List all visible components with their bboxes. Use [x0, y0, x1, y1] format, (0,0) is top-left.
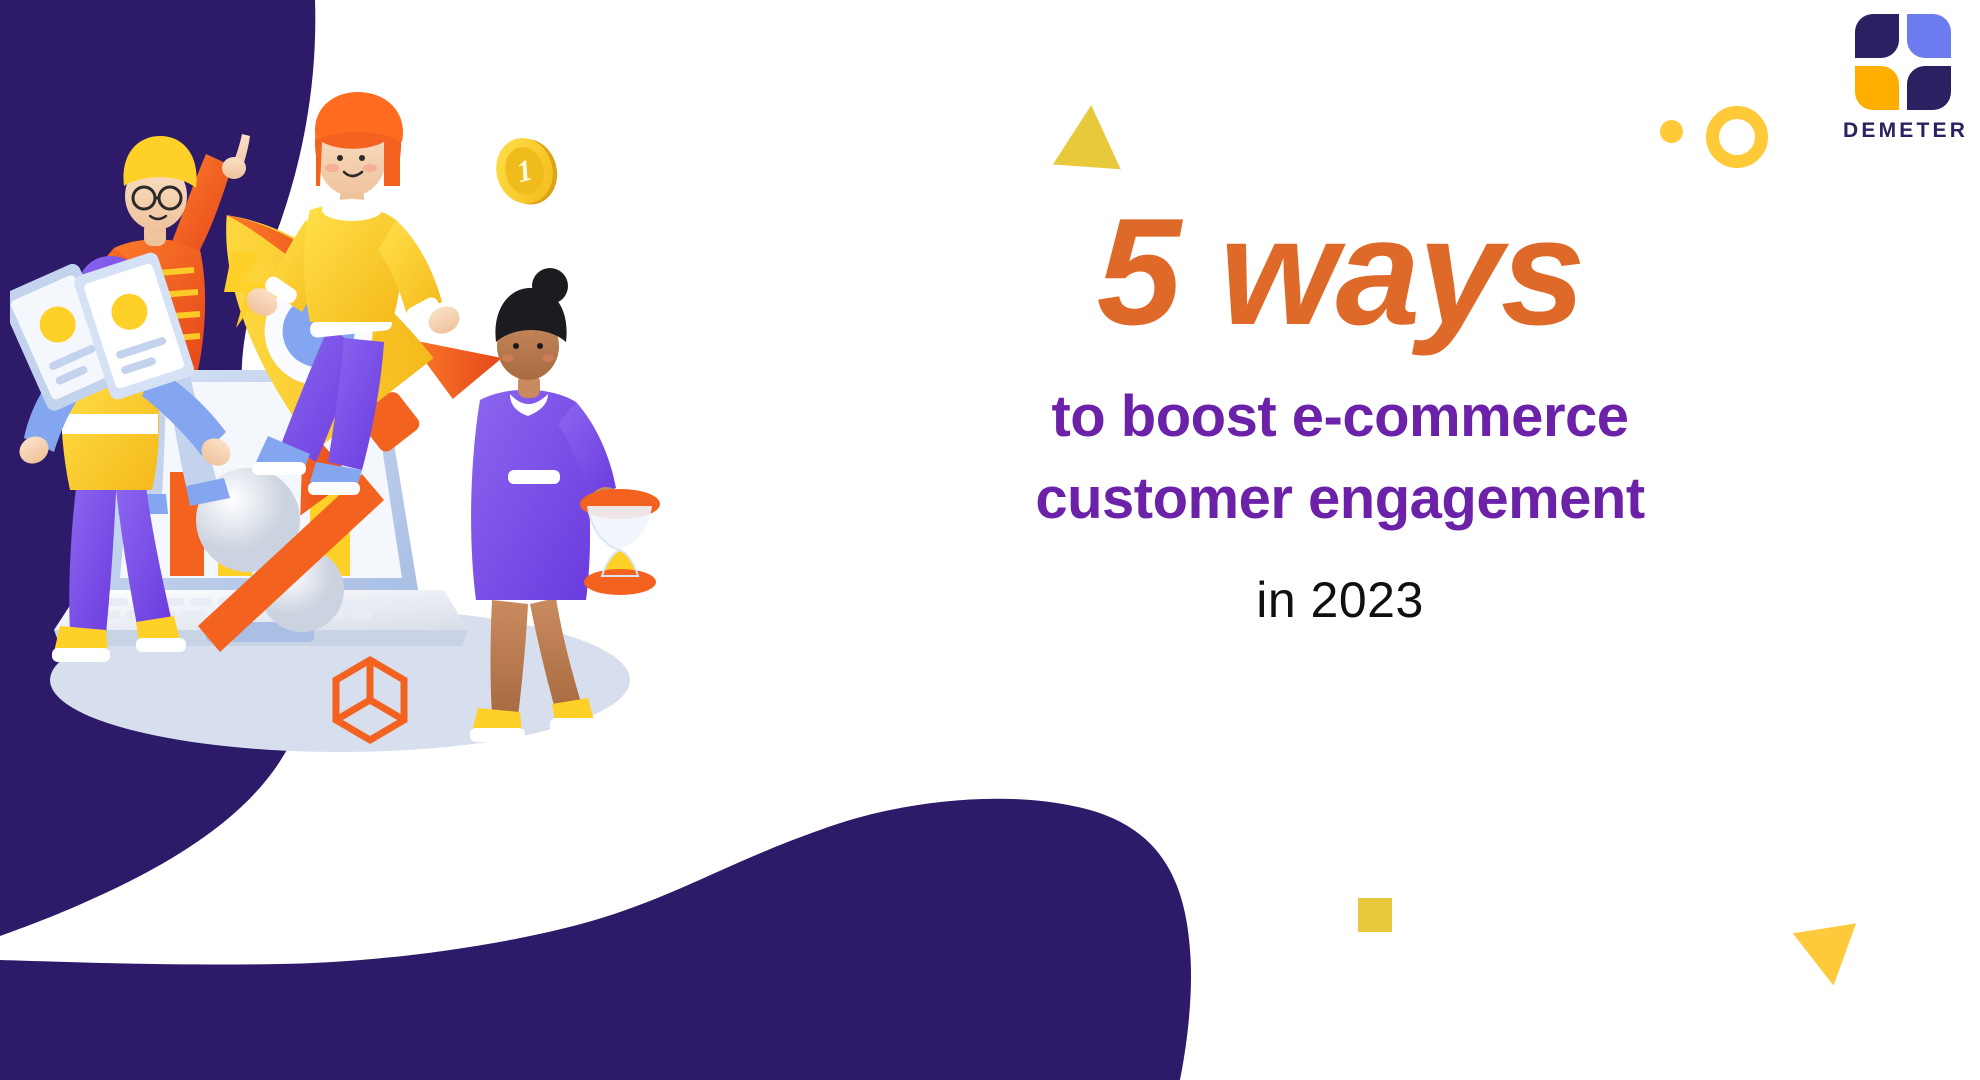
shoe-left-sole	[252, 462, 306, 475]
subheadline-group: to boost e-commerce customer engagement	[960, 376, 1720, 541]
logo-wordmark: DEMETER	[1843, 119, 1963, 143]
gold-coin: 1	[489, 131, 564, 211]
logo-petal-top-right-icon	[1907, 14, 1951, 58]
logo-petal-bottom-right-icon	[1907, 66, 1951, 110]
triangle-up-yellow-icon	[1053, 103, 1125, 170]
triangle-down-yellow-icon	[1793, 923, 1865, 990]
subheadline-line-2: customer engagement	[960, 458, 1720, 540]
subheadline-line-1: to boost e-commerce	[960, 376, 1720, 458]
square-yellow-icon	[1358, 898, 1392, 932]
logo-mark	[1855, 14, 1951, 110]
hourglass	[580, 489, 660, 595]
hair-bun	[532, 268, 568, 304]
hourglass-bottom-rim	[584, 569, 656, 595]
vest-stripe	[62, 414, 158, 434]
logo-petal-top-left-icon	[1855, 14, 1899, 58]
year-label: in 2023	[960, 571, 1720, 629]
hourglass-glass	[588, 506, 652, 548]
copy-block: 5 ways to boost e-commerce customer enga…	[960, 196, 1720, 629]
shoe-right-sole	[308, 482, 360, 495]
dot-small-yellow-icon	[1660, 120, 1683, 143]
headline: 5 ways	[960, 196, 1720, 348]
logo-petal-bottom-left-icon	[1855, 66, 1899, 110]
banner-canvas: DEMETER 5 ways to boost e-commerce custo…	[0, 0, 1980, 1080]
demeter-logo[interactable]: DEMETER	[1843, 14, 1963, 149]
ring-yellow-icon	[1706, 106, 1768, 168]
hero-illustration: 1	[10, 70, 690, 810]
